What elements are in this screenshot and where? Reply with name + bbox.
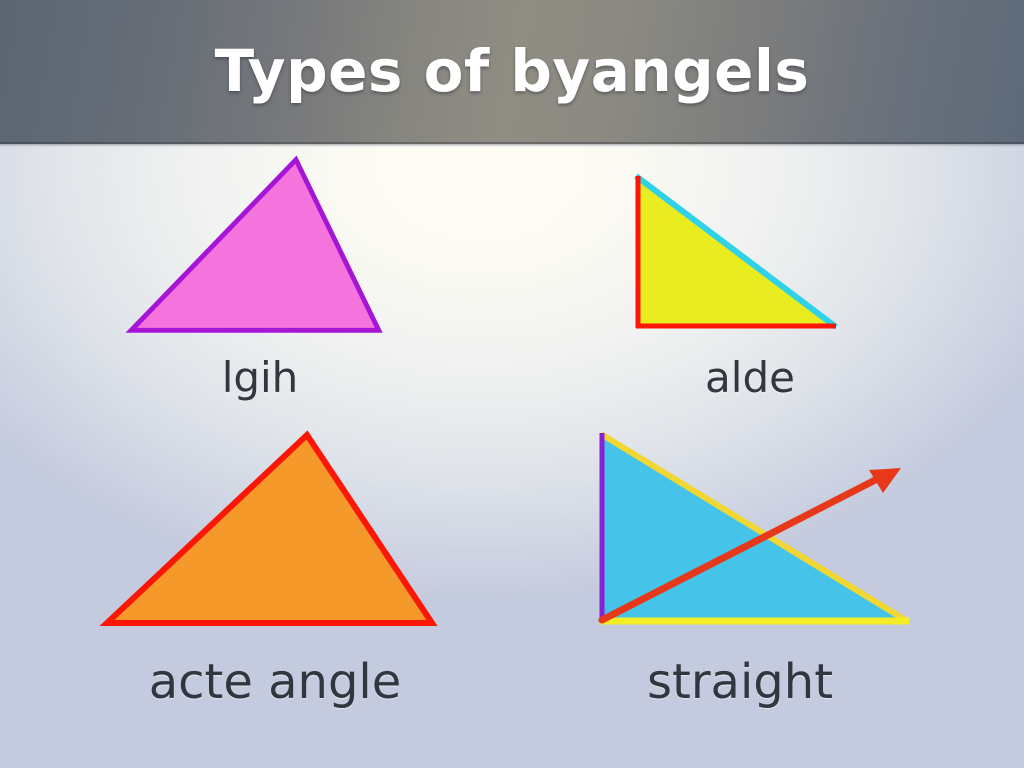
page-title: Types of byangels: [0, 36, 1024, 106]
figure-alde-caption: alde: [600, 352, 900, 404]
magenta-triangle-shape: [110, 150, 400, 340]
slide-canvas: Types of byangels lgih alde acte angle: [0, 0, 1024, 768]
yellow-right-triangle-shape: [600, 150, 860, 340]
title-banner: Types of byangels: [0, 0, 1024, 144]
cyan-right-triangle-shape: [585, 425, 920, 635]
figure-straight: [585, 425, 925, 640]
figure-straight-caption: straight: [585, 652, 895, 712]
orange-triangle-shape: [90, 425, 450, 630]
figure-acte-caption: acte angle: [80, 652, 470, 712]
figure-lgih-caption: lgih: [110, 352, 410, 404]
figure-acte: [90, 425, 460, 640]
